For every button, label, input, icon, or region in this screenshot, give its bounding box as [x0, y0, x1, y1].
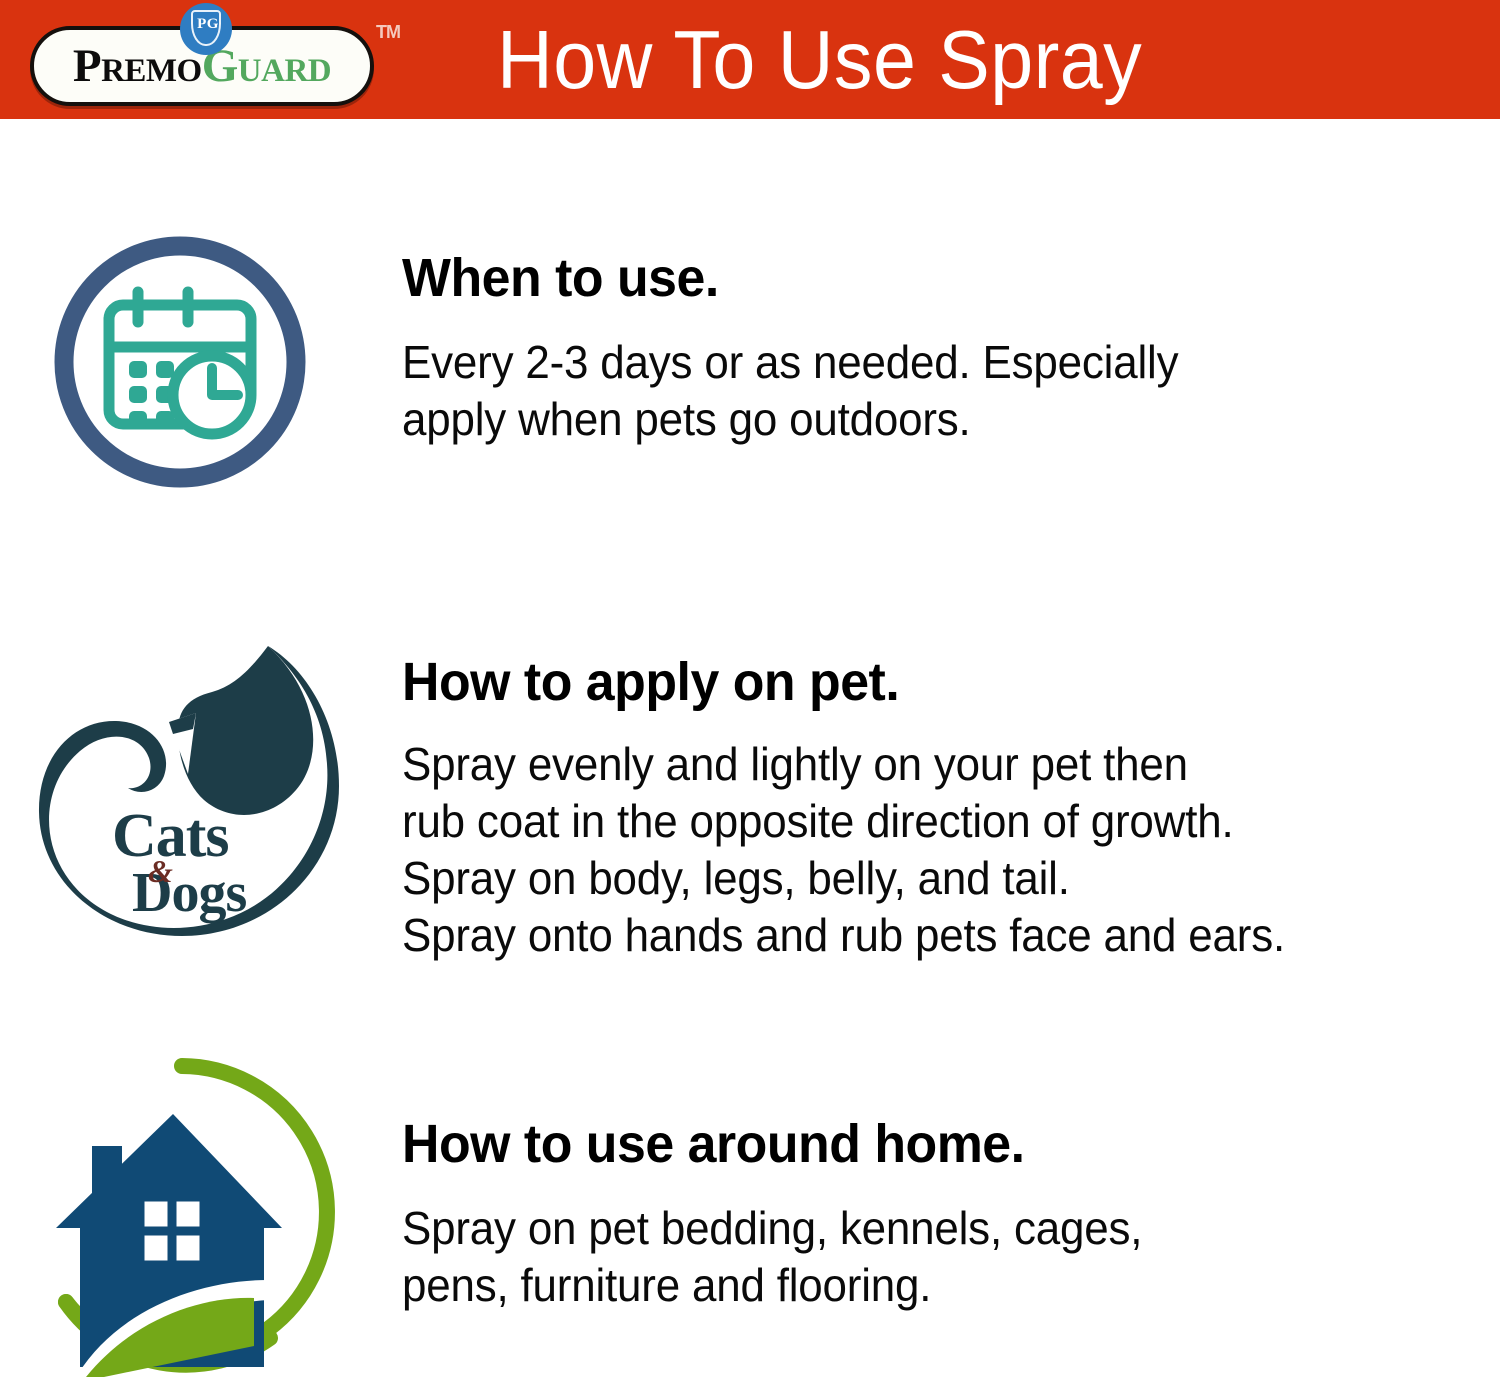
- calendar-clock-icon: [46, 228, 314, 496]
- section-heading: How to use around home.: [402, 1114, 1429, 1174]
- body-line: Spray on pet bedding, kennels, cages,: [402, 1200, 1424, 1257]
- section-body: Spray on pet bedding, kennels, cages, pe…: [402, 1200, 1424, 1314]
- body-line: apply when pets go outdoors.: [402, 391, 1424, 448]
- page-title: How To Use Spray: [497, 6, 1260, 114]
- body-line: Spray evenly and lightly on your pet the…: [402, 736, 1424, 793]
- premo-guard-logo: PremoGuard PG TM: [14, 2, 414, 118]
- cats-and-dogs-icon: Cats Dogs &: [36, 634, 346, 939]
- body-line: pens, furniture and flooring.: [402, 1257, 1424, 1314]
- shield-icon: PG: [180, 3, 232, 55]
- section-home-text: How to use around home. Spray on pet bed…: [402, 1114, 1472, 1314]
- section-heading: How to apply on pet.: [402, 652, 1429, 712]
- shield-initials: PG: [193, 16, 223, 33]
- section-how-to-apply: Cats Dogs & How to apply on pet. Spray e…: [0, 630, 1500, 960]
- section-apply-text: How to apply on pet. Spray evenly and li…: [402, 652, 1472, 964]
- section-body: Every 2-3 days or as needed. Especially …: [402, 334, 1424, 448]
- body-line: Every 2-3 days or as needed. Especially: [402, 334, 1424, 391]
- body-line: Spray onto hands and rub pets face and e…: [402, 907, 1424, 964]
- section-when-to-use: When to use. Every 2-3 days or as needed…: [0, 228, 1500, 518]
- trademark-mark: TM: [376, 22, 400, 43]
- how-to-use-spray-infographic: PremoGuard PG TM How To Use Spray: [0, 0, 1500, 1392]
- house-icon: [32, 1052, 354, 1377]
- section-when-text: When to use. Every 2-3 days or as needed…: [402, 248, 1472, 448]
- section-heading: When to use.: [402, 248, 1429, 308]
- header-bar: PremoGuard PG TM How To Use Spray: [0, 0, 1500, 119]
- section-body: Spray evenly and lightly on your pet the…: [402, 736, 1424, 964]
- body-line: rub coat in the opposite direction of gr…: [402, 793, 1424, 850]
- shield-glyph: PG: [191, 10, 221, 46]
- logo-brand-first: Premo: [73, 40, 202, 92]
- section-around-home: How to use around home. Spray on pet bed…: [0, 1052, 1500, 1382]
- ampersand-label: &: [148, 853, 173, 889]
- body-line: Spray on body, legs, belly, and tail.: [402, 850, 1424, 907]
